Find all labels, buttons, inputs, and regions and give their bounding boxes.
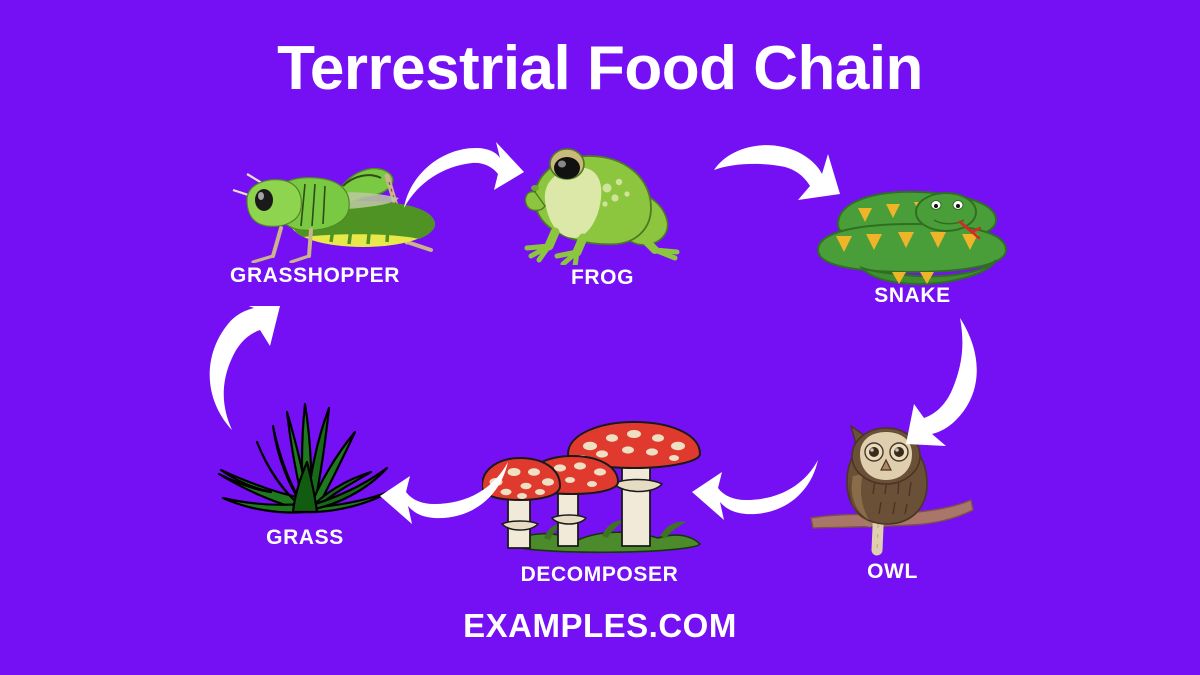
node-label-snake: SNAKE — [800, 284, 1025, 308]
food-chain-diagram: Terrestrial Food Chain — [0, 0, 1200, 675]
frog-illustration — [505, 140, 700, 265]
node-label-owl: OWL — [805, 560, 980, 584]
watermark: EXAMPLES.COM — [0, 606, 1200, 646]
node-frog: FROG — [505, 140, 700, 300]
page-title: Terrestrial Food Chain — [0, 34, 1200, 104]
curved-arrow-up-icon — [188, 306, 300, 432]
curved-arrow-left-icon — [688, 452, 822, 546]
node-label-decomposer: DECOMPOSER — [482, 563, 717, 587]
mushrooms-illustration — [482, 420, 717, 562]
node-decomposer: DECOMPOSER — [482, 420, 717, 600]
node-label-grasshopper: GRASSHOPPER — [185, 264, 445, 288]
node-label-grass: GRASS — [205, 526, 405, 550]
curved-arrow-right-icon — [400, 136, 530, 220]
curved-arrow-right-icon — [712, 136, 847, 232]
curved-arrow-left-icon — [378, 458, 512, 542]
node-label-frog: FROG — [505, 266, 700, 290]
curved-arrow-down-icon — [898, 318, 1010, 452]
